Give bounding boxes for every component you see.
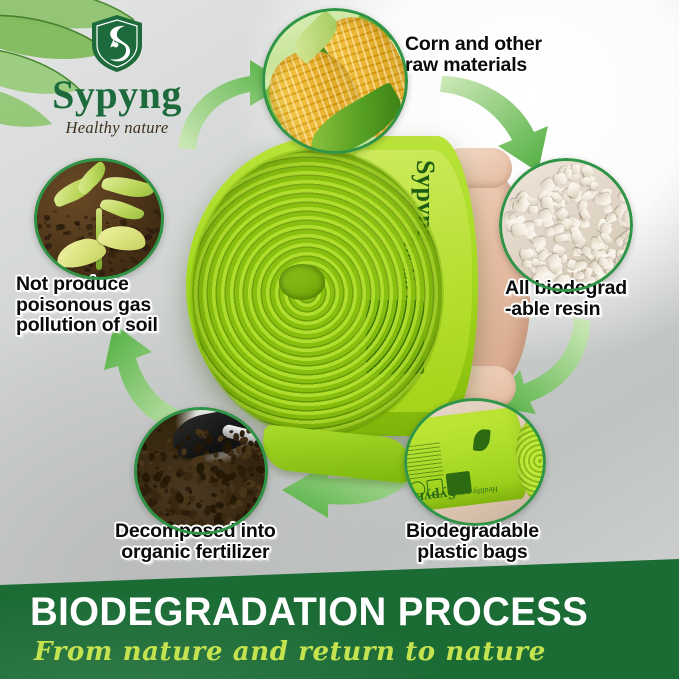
- bags-photo: Sypyng Healthy nature: [404, 398, 546, 526]
- label-compost: Decomposed into organic fertilizer: [115, 521, 276, 562]
- label-soil: Not produce poisonous gas pollution of s…: [16, 274, 158, 336]
- bag-roll-small: Sypyng Healthy nature: [404, 406, 531, 513]
- banner-title: BIODEGRADATION PROCESS: [30, 591, 635, 633]
- seedling-photo: [34, 158, 164, 280]
- bottom-banner: BIODEGRADATION PROCESS From nature and r…: [0, 559, 679, 679]
- node-bags[interactable]: Sypyng Healthy nature: [404, 398, 546, 526]
- compost-photo: [134, 407, 268, 535]
- bag-roll-body: Sypyng Healthy nature: [186, 136, 478, 436]
- corn-photo: [262, 8, 408, 154]
- node-seedling[interactable]: [34, 158, 164, 280]
- label-corn: Corn and other raw materials: [405, 34, 542, 75]
- node-corn[interactable]: [262, 8, 408, 154]
- node-compost[interactable]: [134, 407, 268, 535]
- bag-roll-coil: [192, 150, 442, 436]
- label-resin: All biodegrad -able resin: [505, 278, 627, 319]
- biodegradation-process-infographic: Sypyng Healthy nature: [0, 0, 679, 679]
- resin-pellets-photo: [499, 158, 633, 292]
- label-bags: Biodegradable plastic bags: [406, 521, 539, 562]
- shield-s-logo-icon: [86, 12, 148, 74]
- banner-subtitle: From nature and return to nature: [34, 638, 654, 666]
- node-resin[interactable]: [499, 158, 633, 292]
- cert-badge-filled: [446, 471, 473, 496]
- cert-badge-square: [426, 478, 444, 496]
- sprout-mark-icon: [473, 429, 491, 452]
- coil-center: [279, 264, 325, 300]
